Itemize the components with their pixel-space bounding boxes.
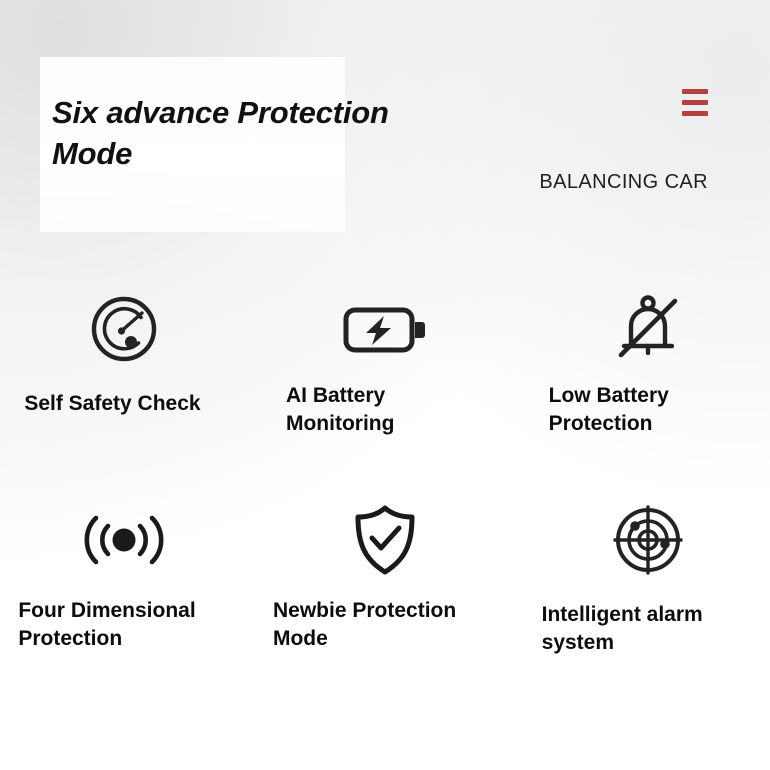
feature-label: AI Battery Monitoring: [286, 382, 486, 438]
feature-grid: Self Safety Check AI Battery Monitoring: [0, 290, 770, 657]
feature-label: Low Battery Protection: [549, 382, 745, 438]
shield-check-icon: [350, 501, 420, 579]
brand-bar-1: [682, 89, 708, 94]
radar-target-icon: [612, 501, 684, 579]
brand-bars: [682, 89, 708, 116]
battery-charging-icon: [342, 290, 428, 368]
brand-bar-2: [682, 100, 708, 105]
feature-item-four-dimensional-protection: Four Dimensional Protection: [0, 501, 257, 657]
feature-row-1: Self Safety Check AI Battery Monitoring: [0, 290, 770, 438]
feature-item-ai-battery-monitoring: AI Battery Monitoring: [257, 290, 514, 438]
feature-label: Newbie Protection Mode: [273, 597, 499, 653]
feature-label: Self Safety Check: [24, 390, 238, 418]
signal-waves-icon: [81, 501, 167, 579]
brand-name: BALANCING CAR: [468, 168, 708, 197]
speedometer-icon: [88, 290, 160, 368]
feature-label: Four Dimensional Protection: [18, 597, 238, 653]
bell-off-icon: [611, 290, 685, 368]
promo-poster: Six advance Protection Mode BALANCING CA…: [0, 0, 770, 770]
brand-bar-3: [682, 111, 708, 116]
page-title: Six advance Protection Mode: [52, 92, 472, 174]
feature-label: Intelligent alarm system: [542, 601, 750, 657]
feature-row-2: Four Dimensional Protection Newbie Prote…: [0, 501, 770, 657]
feature-item-self-safety-check: Self Safety Check: [0, 290, 257, 438]
feature-item-newbie-protection-mode: Newbie Protection Mode: [257, 501, 514, 657]
feature-item-low-battery-protection: Low Battery Protection: [513, 290, 770, 438]
feature-item-intelligent-alarm-system: Intelligent alarm system: [513, 501, 770, 657]
